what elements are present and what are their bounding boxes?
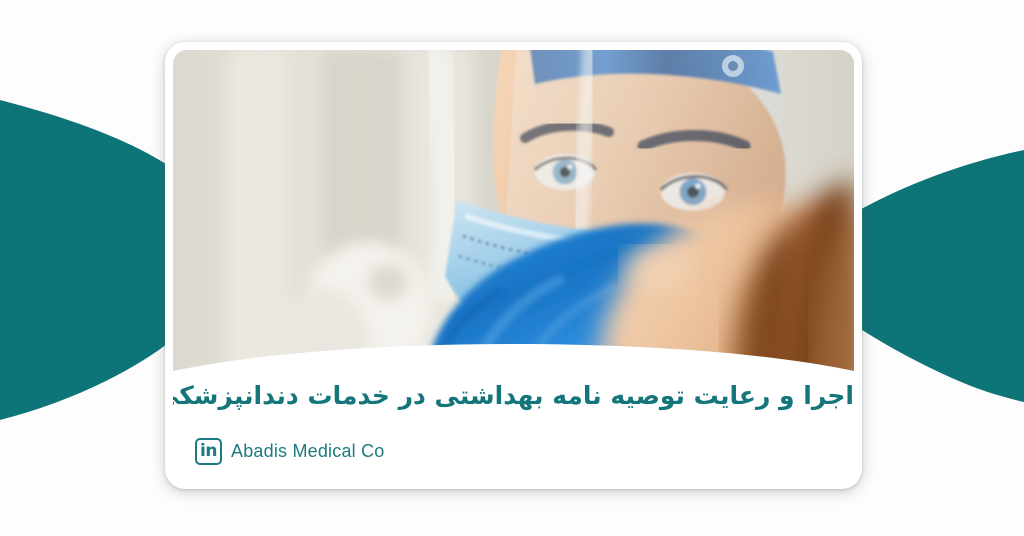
banner-caption: اجرا و رعایت توصیه نامه بهداشتی در خدمات… [173, 380, 854, 411]
banner-stage: اجرا و رعایت توصیه نامه بهداشتی در خدمات… [0, 0, 1024, 536]
brand-row[interactable]: in Abadis Medical Co [195, 438, 384, 465]
content-card: اجرا و رعایت توصیه نامه بهداشتی در خدمات… [165, 42, 862, 489]
brand-name-label: Abadis Medical Co [231, 441, 384, 462]
card-inner: اجرا و رعایت توصیه نامه بهداشتی در خدمات… [173, 50, 854, 481]
hero-photo [173, 50, 854, 390]
linkedin-icon[interactable]: in [195, 438, 222, 465]
